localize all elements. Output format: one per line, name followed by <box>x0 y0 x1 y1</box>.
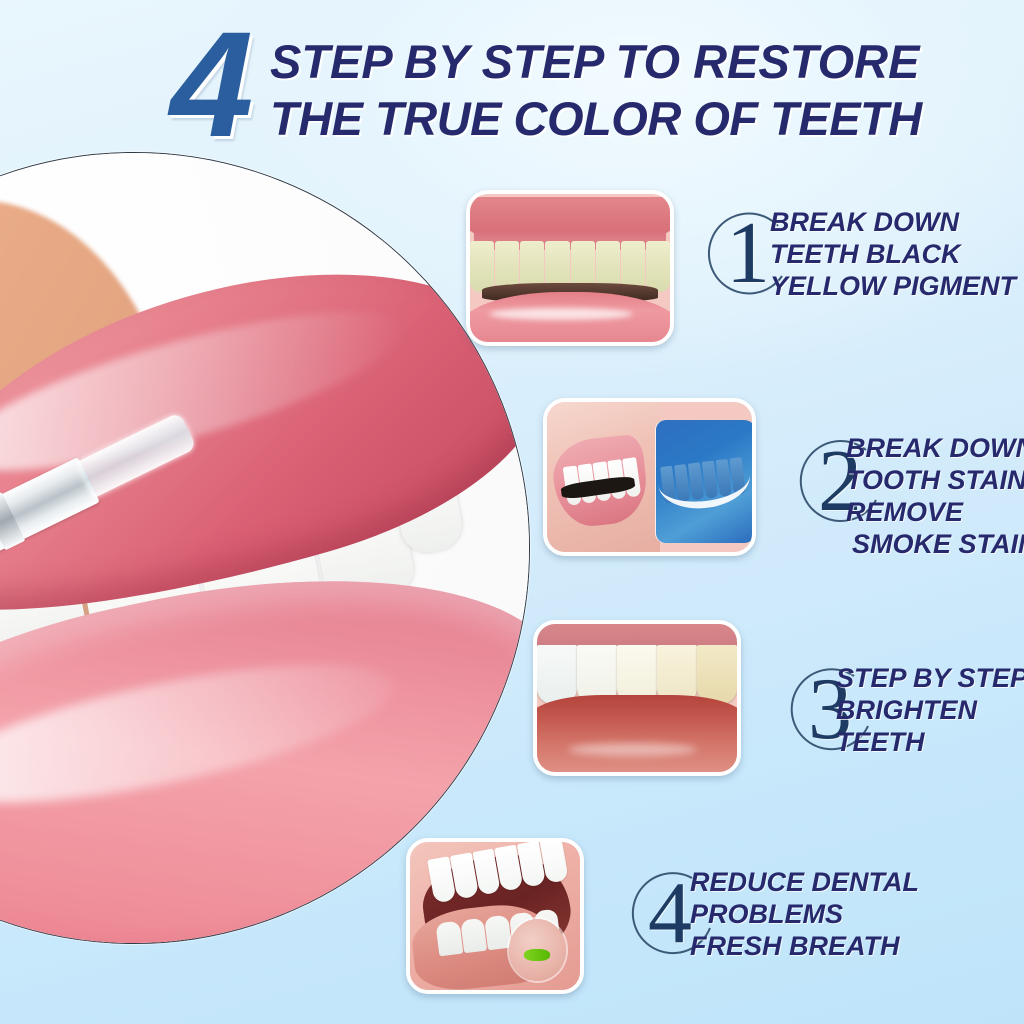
step-2-line-2: TOOTH STAINS <box>846 464 1024 496</box>
step-2-text: BREAK DOWN TOOTH STAINS REMOVE SMOKE STA… <box>846 432 1024 560</box>
step-4-thumbnail <box>406 838 584 994</box>
uv-arc-highlight <box>655 447 754 514</box>
step-3-text: STEP BY STEP BRIGHTEN TEETH <box>836 662 1024 758</box>
yellow-teeth-lower-lip <box>466 292 674 346</box>
step-3-line-2: BRIGHTEN <box>836 694 1024 726</box>
step-1-text: BREAK DOWN TEETH BLACK YELLOW PIGMENT <box>770 206 1016 302</box>
split-right-uv-view <box>656 420 756 543</box>
step-1-line-1: BREAK DOWN <box>770 206 1016 238</box>
step-2-line-1: BREAK DOWN <box>846 432 1024 464</box>
magnifier-circle <box>509 919 567 981</box>
step-4-line-1: REDUCE DENTAL <box>690 866 919 898</box>
step-4-line-2: PROBLEMS <box>690 898 919 930</box>
step-1-line-3: YELLOW PIGMENT <box>770 270 1016 302</box>
step-3-line-3: TEETH <box>836 726 1024 758</box>
poster-canvas: 4 STEP BY STEP TO RESTORE THE TRUE COLOR… <box>0 0 1024 1024</box>
step-1-line-2: TEETH BLACK <box>770 238 1016 270</box>
step-3-line-1: STEP BY STEP <box>836 662 1024 694</box>
green-highlight-icon <box>524 949 551 961</box>
step-2-thumbnail <box>543 398 756 556</box>
step-3-thumbnail <box>533 620 741 776</box>
step-4-line-3: FRESH BREATH <box>690 930 919 962</box>
step-1-thumbnail <box>466 190 674 346</box>
macro-tongue <box>533 695 741 776</box>
step-2-line-4: SMOKE STAINS <box>852 528 1024 560</box>
split-left-natural <box>547 402 660 552</box>
step-2-line-3: REMOVE <box>846 496 1024 528</box>
step-4-text: REDUCE DENTAL PROBLEMS FRESH BREATH <box>690 866 919 962</box>
